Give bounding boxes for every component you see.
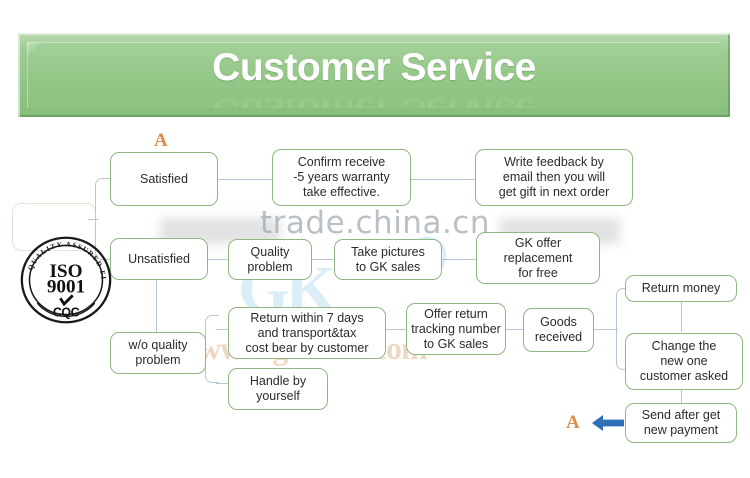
node-quality-problem-label: Qualityproblem	[247, 245, 292, 275]
connector-woquality-bracket	[205, 315, 219, 383]
node-wo-quality-problem[interactable]: w/o qualityproblem	[110, 332, 206, 374]
node-confirm-receive-label: Confirm receive-5 years warrantytake eff…	[293, 155, 390, 200]
node-take-pictures-label: Take picturesto GK sales	[351, 245, 425, 275]
node-return-7-days-label: Return within 7 daysand transport&taxcos…	[246, 311, 369, 356]
node-gk-replacement-label: GK offerreplacementfor free	[504, 236, 573, 281]
marker-a-bottom: A	[566, 413, 580, 433]
node-quality-problem[interactable]: Qualityproblem	[228, 239, 312, 280]
svg-text:9001: 9001	[47, 276, 85, 297]
node-return-7-days[interactable]: Return within 7 daysand transport&taxcos…	[228, 307, 386, 359]
node-change-new-one[interactable]: Change thenew onecustomer asked	[625, 333, 743, 390]
node-goods-received[interactable]: Goodsreceived	[523, 308, 594, 352]
connector-unsatisfied-woquality	[156, 280, 157, 333]
node-wo-quality-problem-label: w/o qualityproblem	[128, 338, 187, 368]
node-send-after-payment-label: Send after getnew payment	[642, 408, 721, 438]
connector-unsatisfied-quality	[208, 259, 228, 260]
node-write-feedback[interactable]: Write feedback byemail then you willget …	[475, 149, 633, 206]
connector-tracking-goods	[503, 329, 523, 330]
node-gk-replacement[interactable]: GK offerreplacementfor free	[476, 232, 600, 284]
svg-text:CQC: CQC	[53, 305, 80, 319]
node-goods-received-label: Goodsreceived	[535, 315, 582, 345]
node-write-feedback-label: Write feedback byemail then you willget …	[499, 155, 609, 200]
node-confirm-receive[interactable]: Confirm receive-5 years warrantytake eff…	[272, 149, 411, 206]
node-handle-yourself[interactable]: Handle byyourself	[228, 368, 328, 410]
node-return-money[interactable]: Return money	[625, 275, 737, 302]
connector-satisfied-confirm	[218, 179, 272, 180]
marker-a-top: A	[154, 131, 168, 151]
node-offer-tracking-label: Offer returntracking numberto GK sales	[411, 307, 501, 352]
customer-service-flowchart-page: Customer Service Customer Service GK ® t…	[0, 0, 750, 478]
arrow-left-icon	[592, 414, 624, 437]
page-title: Customer Service	[27, 46, 721, 90]
page-title-reflection: Customer Service	[27, 88, 721, 108]
node-send-after-payment[interactable]: Send after getnew payment	[625, 403, 737, 443]
connector-return7-tracking	[384, 329, 406, 330]
node-return-money-label: Return money	[642, 281, 721, 296]
connector-confirm-feedback	[411, 179, 475, 180]
node-change-new-one-label: Change thenew onecustomer asked	[640, 339, 728, 384]
iso-9001-certification-stamp: QUALITY ASSURED FIRM ISO 9001 CQC	[18, 232, 114, 328]
page-header-banner: Customer Service Customer Service	[18, 33, 730, 117]
connector-quality-pictures	[312, 259, 334, 260]
node-satisfied-label: Satisfied	[140, 172, 188, 187]
node-satisfied[interactable]: Satisfied	[110, 152, 218, 206]
node-unsatisfied-label: Unsatisfied	[128, 252, 190, 267]
node-handle-yourself-label: Handle byyourself	[250, 374, 306, 404]
node-offer-tracking[interactable]: Offer returntracking numberto GK sales	[406, 303, 506, 355]
connector-goods-stem	[594, 329, 618, 330]
node-take-pictures[interactable]: Take picturesto GK sales	[334, 239, 442, 280]
connector-pictures-replacement	[442, 259, 476, 260]
node-unsatisfied[interactable]: Unsatisfied	[110, 238, 208, 280]
banner-inner-panel: Customer Service Customer Service	[27, 42, 721, 108]
connector-returnmoney-down	[681, 302, 682, 332]
